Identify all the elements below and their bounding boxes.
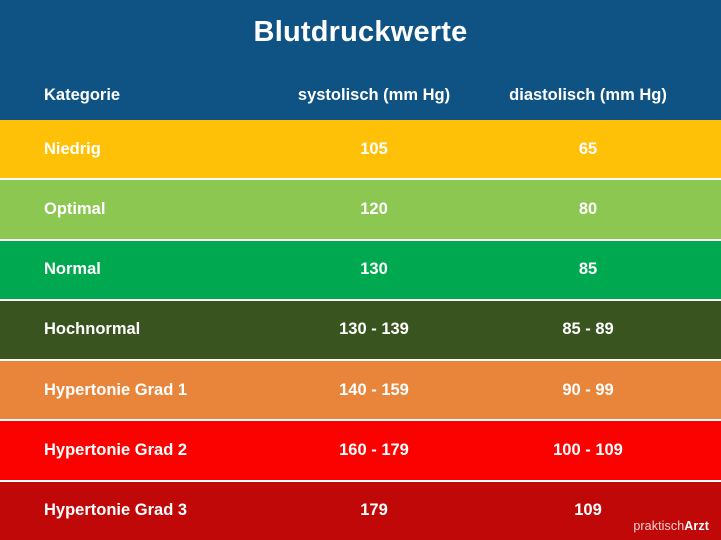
cell-category: Hypertonie Grad 2 bbox=[0, 441, 288, 460]
praktischarzt-logo: praktischArzt bbox=[633, 520, 709, 533]
cell-systolic: 160 - 179 bbox=[288, 441, 460, 460]
table-row: Hypertonie Grad 2160 - 179100 - 109 bbox=[0, 419, 721, 479]
blood-pressure-table: Blutdruckwerte Kategorie systolisch (mm … bbox=[0, 0, 721, 540]
cell-category: Hypertonie Grad 1 bbox=[0, 381, 288, 400]
cell-systolic: 140 - 159 bbox=[288, 381, 460, 400]
cell-category: Niedrig bbox=[0, 140, 288, 159]
cell-category: Optimal bbox=[0, 200, 288, 219]
cell-diastolic: 85 - 89 bbox=[488, 320, 688, 339]
column-header-diastolic: diastolisch (mm Hg) bbox=[488, 86, 688, 105]
cell-diastolic: 85 bbox=[488, 260, 688, 279]
page-title: Blutdruckwerte bbox=[0, 17, 721, 49]
cell-diastolic: 80 bbox=[488, 200, 688, 219]
table-row: Normal13085 bbox=[0, 239, 721, 299]
table-row: Hypertonie Grad 1140 - 15990 - 99 bbox=[0, 359, 721, 419]
logo-text-bold: Arzt bbox=[684, 519, 709, 533]
table-body: Niedrig10565Optimal12080Normal13085Hochn… bbox=[0, 120, 721, 540]
logo-text-regular: praktisch bbox=[633, 519, 684, 533]
cell-category: Normal bbox=[0, 260, 288, 279]
cell-diastolic: 109 bbox=[488, 501, 688, 520]
table-row: Optimal12080 bbox=[0, 178, 721, 238]
cell-systolic: 120 bbox=[288, 200, 460, 219]
cell-systolic: 130 - 139 bbox=[288, 320, 460, 339]
table-row: Niedrig10565 bbox=[0, 120, 721, 178]
table-header: Blutdruckwerte Kategorie systolisch (mm … bbox=[0, 0, 721, 120]
column-header-category: Kategorie bbox=[0, 86, 288, 105]
cell-systolic: 130 bbox=[288, 260, 460, 279]
cell-systolic: 105 bbox=[288, 140, 460, 159]
cell-diastolic: 65 bbox=[488, 140, 688, 159]
cell-category: Hochnormal bbox=[0, 320, 288, 339]
column-header-row: Kategorie systolisch (mm Hg) diastolisch… bbox=[0, 82, 721, 108]
column-header-systolic: systolisch (mm Hg) bbox=[288, 86, 460, 105]
cell-category: Hypertonie Grad 3 bbox=[0, 501, 288, 520]
cell-diastolic: 90 - 99 bbox=[488, 381, 688, 400]
table-row: Hochnormal130 - 13985 - 89 bbox=[0, 299, 721, 359]
cell-systolic: 179 bbox=[288, 501, 460, 520]
cell-diastolic: 100 - 109 bbox=[488, 441, 688, 460]
table-row: Hypertonie Grad 3179109praktischArzt bbox=[0, 480, 721, 540]
